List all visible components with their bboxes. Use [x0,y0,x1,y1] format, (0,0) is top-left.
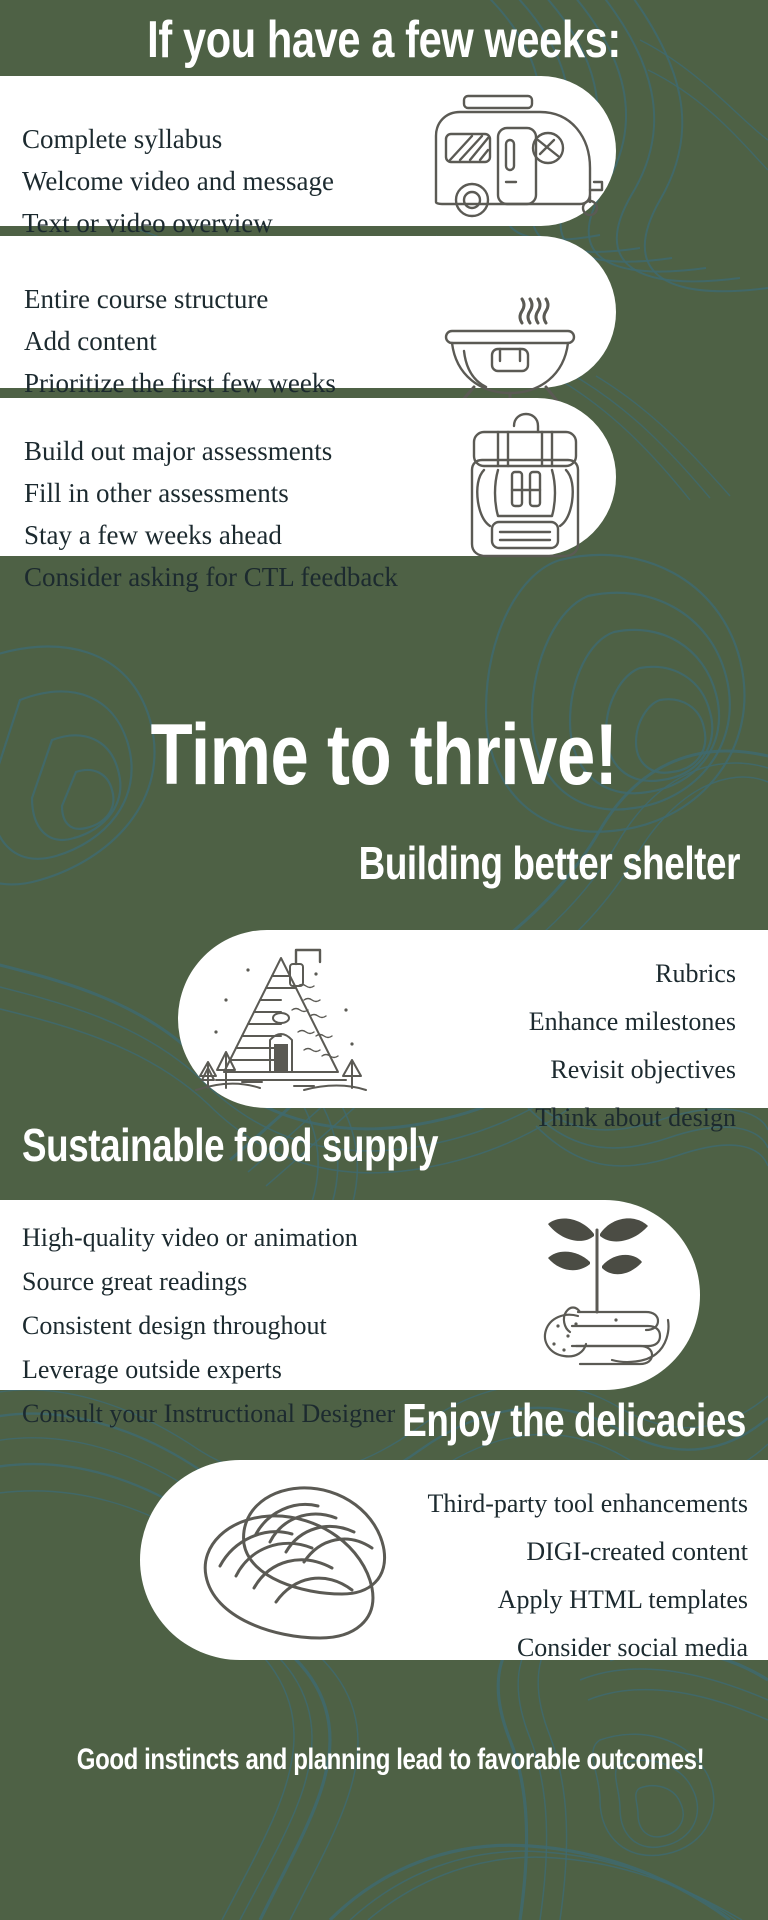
bread-loaf-icon [182,1470,412,1650]
list-item: Consistent design throughout [22,1304,395,1348]
hand-planting-seedling-icon [520,1200,670,1370]
footer-tagline: Good instincts and planning lead to favo… [77,1745,691,1775]
infographic-page: If you have a few weeks: Complete syllab… [0,0,768,1920]
list-item: Leverage outside experts [22,1348,395,1392]
list-item: High-quality video or animation [22,1216,395,1260]
list-item: Build out major assessments [24,430,398,472]
heading-sustainable-food-supply: Sustainable food supply [22,1122,614,1168]
list-item: Stay a few weeks ahead [24,514,398,556]
list-item: Fill in other assessments [24,472,398,514]
heading-if-you-have-a-few-weeks: If you have a few weeks: [77,14,691,66]
card-assessments-list: Build out major assessments Fill in othe… [24,430,398,598]
list-item: Welcome video and message [22,160,334,202]
heading-enjoy-the-delicacies: Enjoy the delicacies [149,1397,746,1443]
card-syllabus-list: Complete syllabus Welcome video and mess… [22,118,334,244]
camper-trailer-icon [420,90,610,225]
list-item: Add content [24,320,336,362]
heading-time-to-thrive: Time to thrive! [77,712,691,798]
a-frame-shelter-icon [186,940,376,1100]
card-course-structure-list: Entire course structure Add content Prio… [24,278,336,404]
list-item: Source great readings [22,1260,395,1304]
heading-building-better-shelter: Building better shelter [148,840,740,886]
list-item: Entire course structure [24,278,336,320]
list-item: Consider asking for CTL feedback [24,556,398,598]
list-item: Complete syllabus [22,118,334,160]
backpack-icon [450,410,600,560]
